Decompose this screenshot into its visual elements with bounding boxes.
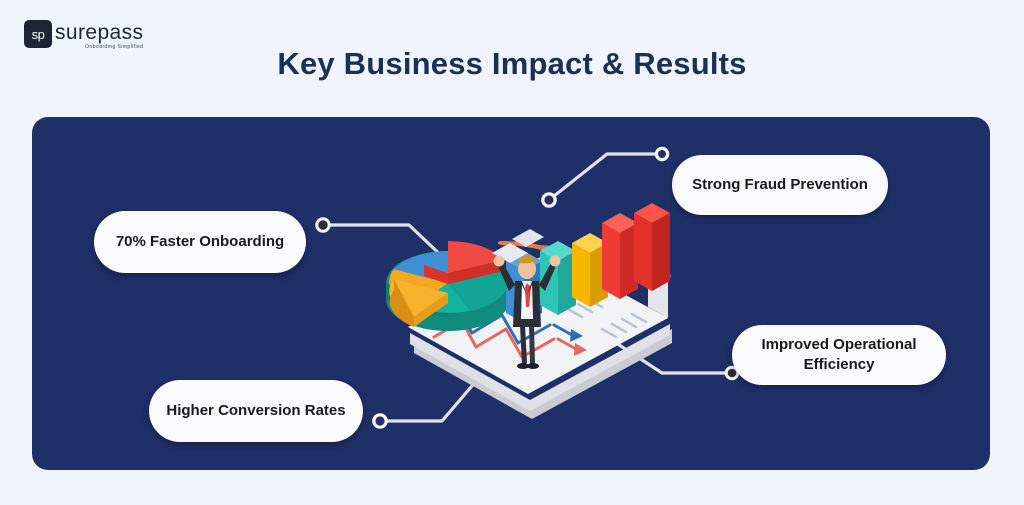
logo-name: surepass (55, 22, 143, 44)
content-panel: 70% Faster Onboarding Strong Fraud Preve… (32, 117, 990, 470)
callout-pill-fraud[interactable]: Strong Fraud Prevention (672, 155, 888, 215)
callout-pill-onboarding[interactable]: 70% Faster Onboarding (94, 211, 306, 273)
callout-pill-conversion[interactable]: Higher Conversion Rates (149, 380, 363, 442)
connector-dot-onboarding-pill (317, 219, 329, 231)
logo-mark-icon: sp (24, 20, 52, 48)
callout-pill-efficiency[interactable]: Improved Operational Efficiency (732, 325, 946, 385)
logo-mark-text: sp (32, 28, 45, 41)
pie-chart (386, 241, 510, 331)
business-growth-illustration (372, 157, 692, 437)
slide-root: sp surepass Onboarding Simplified Key Bu… (0, 0, 1024, 505)
page-title: Key Business Impact & Results (0, 46, 1024, 82)
